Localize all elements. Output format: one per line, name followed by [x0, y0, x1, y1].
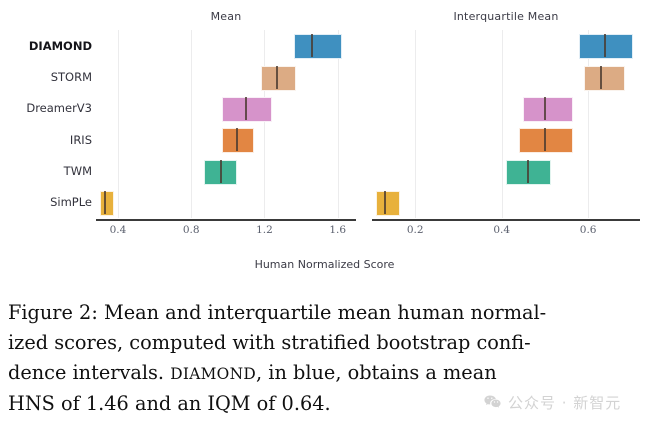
gridline-0.4	[118, 30, 119, 218]
x-axis-spine-0	[96, 219, 356, 221]
x-tick-label-1.6: 1.6	[329, 224, 346, 236]
ci-bar-simple	[100, 191, 115, 216]
plot-iqm	[372, 30, 640, 218]
x-axis-title: Human Normalized Score	[0, 258, 649, 271]
point-estimate-twm	[220, 160, 222, 183]
point-estimate-diamond	[604, 34, 606, 57]
point-estimate-dreamerv3	[245, 97, 247, 120]
point-estimate-storm	[600, 66, 602, 89]
caption-line-1: Figure 2: Mean and interquartile mean hu…	[8, 298, 642, 328]
point-estimate-simple	[104, 191, 106, 214]
panel-interquartile-mean: Interquartile Mean 0.20.40.6	[372, 0, 640, 248]
point-estimate-storm	[276, 66, 278, 89]
gridline-0.8	[191, 30, 192, 218]
x-tick-label-0.2: 0.2	[407, 224, 424, 236]
watermark-text: 公众号 · 新智元	[508, 392, 621, 413]
ci-bar-diamond	[294, 34, 342, 59]
y-label-dreamerv3: DreamerV3	[0, 101, 92, 115]
point-estimate-twm	[527, 160, 529, 183]
panel-mean: Mean 0.40.81.21.6	[96, 0, 356, 248]
chart-area: DIAMONDSTORMDreamerV3IRISTWMSimPLe Mean …	[0, 0, 649, 288]
y-label-simple: SimPLe	[0, 195, 92, 209]
y-label-iris: IRIS	[0, 133, 92, 147]
caption-line-3-rest: , in blue, obtains a mean	[256, 361, 497, 384]
panel-title-iqm: Interquartile Mean	[372, 10, 640, 23]
ci-bar-dreamerv3	[523, 97, 573, 122]
caption-line-3-prefix: dence intervals.	[8, 361, 170, 384]
plot-mean	[96, 30, 356, 218]
panel-title-mean: Mean	[96, 10, 356, 23]
x-tick-label-0.4: 0.4	[110, 224, 127, 236]
ci-bar-twm	[506, 160, 551, 185]
ci-bar-storm	[584, 66, 625, 91]
y-label-twm: TWM	[0, 164, 92, 178]
gridline-0.4	[502, 30, 503, 218]
x-tick-label-0.6: 0.6	[580, 224, 597, 236]
wechat-icon	[483, 393, 502, 412]
watermark: 公众号 · 新智元	[483, 392, 621, 413]
caption-line-3: dence intervals. DIAMOND, in blue, obtai…	[8, 358, 642, 389]
y-axis-category-labels: DIAMONDSTORMDreamerV3IRISTWMSimPLe	[0, 30, 96, 218]
point-estimate-iris	[544, 128, 546, 151]
y-label-diamond: DIAMOND	[0, 39, 92, 53]
x-tick-label-0.8: 0.8	[183, 224, 200, 236]
x-tick-label-1.2: 1.2	[256, 224, 273, 236]
figure-2: DIAMONDSTORMDreamerV3IRISTWMSimPLe Mean …	[0, 0, 649, 430]
gridline-0.2	[415, 30, 416, 218]
point-estimate-dreamerv3	[544, 97, 546, 120]
y-label-storm: STORM	[0, 70, 92, 84]
point-estimate-iris	[236, 128, 238, 151]
ci-bar-simple	[376, 191, 400, 216]
point-estimate-diamond	[311, 34, 313, 57]
point-estimate-simple	[384, 191, 386, 214]
caption-method-name: DIAMOND	[170, 365, 256, 383]
x-tick-label-0.4: 0.4	[493, 224, 510, 236]
caption-line-2: ized scores, computed with stratified bo…	[8, 328, 642, 358]
gridline-1.2	[264, 30, 265, 218]
x-axis-spine-1	[372, 219, 640, 221]
